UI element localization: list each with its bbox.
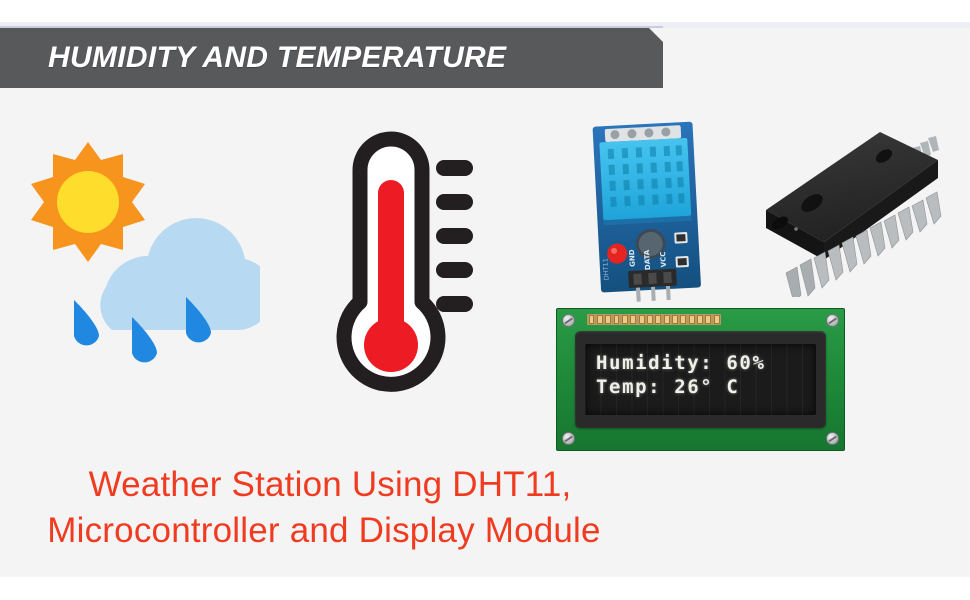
lcd-pin: [589, 315, 595, 324]
dht11-pcb: GND DATA VCC DHT11: [593, 122, 702, 304]
lcd-pin: [639, 315, 645, 324]
caption-line-1: Weather Station Using DHT11,: [0, 462, 660, 508]
header-title: HUMIDITY AND TEMPERATURE: [48, 28, 506, 88]
lcd-screen: Humidity: 60% Temp: 26° C: [585, 344, 816, 415]
dht11-sensor-housing: [599, 138, 691, 225]
lcd-pin: [655, 315, 661, 324]
lcd-pin: [714, 315, 720, 324]
lcd-pin: [697, 315, 703, 324]
ic-pin1-marker: [794, 227, 798, 231]
lcd-pin: [705, 315, 711, 324]
poster-canvas: HUMIDITY AND TEMPERATURE: [0, 0, 970, 600]
lcd-screw-top-right: [826, 314, 839, 327]
lcd-pin: [647, 315, 653, 324]
cloud-icon: [100, 218, 260, 330]
lcd-line-2: Temp: 26° C: [596, 375, 739, 399]
lcd-pin: [689, 315, 695, 324]
lcd-pin: [672, 315, 678, 324]
lcd-pin: [597, 315, 603, 324]
lcd-screw-top-left: [562, 314, 575, 327]
sun-icon: [31, 142, 145, 262]
lcd-bezel: Humidity: 60% Temp: 26° C: [575, 331, 826, 428]
caption-line-2: Microcontroller and Display Module: [0, 508, 660, 554]
lcd-pin: [630, 315, 636, 324]
lcd-pin: [614, 315, 620, 324]
thermometer-icon: [310, 118, 490, 413]
lcd-screw-bottom-right: [826, 432, 839, 445]
lcd-pin: [605, 315, 611, 324]
lcd-1602-display-module: Humidity: 60% Temp: 26° C: [556, 308, 845, 451]
thermometer-ticks: [436, 160, 473, 312]
dht11-silkscreen: DHT11: [601, 258, 610, 281]
sun-cloud-rain-icon: [28, 132, 260, 367]
dht11-bottom-header: [628, 269, 678, 302]
lcd-screw-bottom-left: [562, 432, 575, 445]
dip-microcontroller-ic: [752, 112, 948, 297]
caption: Weather Station Using DHT11, Microcontro…: [0, 462, 660, 554]
lcd-line-1: Humidity: 60%: [596, 351, 766, 375]
svg-text:DATA: DATA: [643, 249, 652, 270]
svg-text:VCC: VCC: [659, 251, 668, 267]
lcd-pin: [622, 315, 628, 324]
ic-pins-front-extra: [786, 259, 815, 297]
dht11-sensor-module: GND DATA VCC DHT11: [575, 118, 721, 304]
lcd-header-pins: [587, 314, 721, 325]
bottom-white-strip: [0, 577, 970, 600]
lcd-pin: [680, 315, 686, 324]
lcd-pin: [664, 315, 670, 324]
svg-text:GND: GND: [628, 249, 637, 267]
